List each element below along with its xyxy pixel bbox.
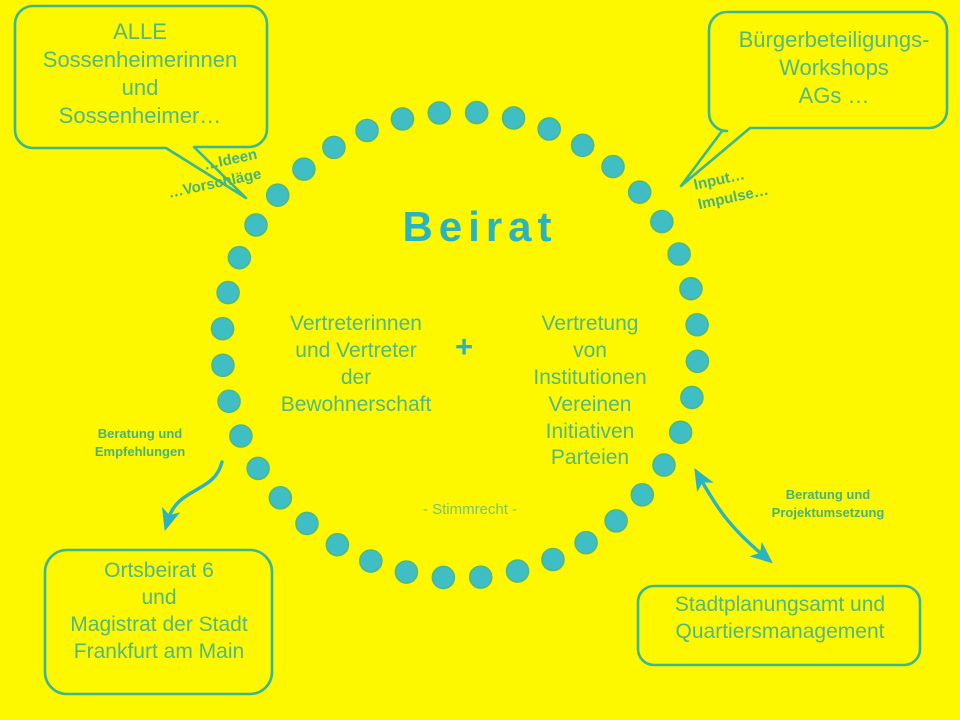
ring-dot: [293, 158, 315, 180]
arrow-right-label: Beratung und Projektumsetzung: [748, 486, 908, 521]
ring-dot: [267, 184, 289, 206]
member-group-right: Vertretung von Institutionen Vereinen In…: [492, 311, 688, 472]
ring-dot: [356, 120, 378, 142]
ring-dot: [212, 354, 234, 376]
plus-icon: +: [446, 331, 482, 362]
arrow-left-label: Beratung und Empfehlungen: [75, 425, 205, 460]
bubble-left-text: ALLE Sossenheimerinnen und Sossenheimer…: [18, 18, 262, 131]
ring-dot: [326, 534, 348, 556]
ring-dot: [247, 457, 269, 479]
ring-dot: [605, 510, 627, 532]
ring-dot: [680, 278, 702, 300]
ring-dot: [686, 350, 708, 372]
ring-dot: [668, 243, 690, 265]
ring-dot: [507, 560, 529, 582]
ring-dot: [686, 314, 708, 336]
ring-dot: [395, 561, 417, 583]
ring-dot: [572, 134, 594, 156]
voting-rights-note: - Stimmrecht -: [390, 500, 550, 519]
diagram-canvas: ALLE Sossenheimerinnen und Sossenheimer……: [0, 0, 960, 720]
arrow-left: [168, 462, 222, 520]
ring-dot: [269, 487, 291, 509]
ring-dot: [323, 136, 345, 158]
ring-dot: [470, 566, 492, 588]
ring-dot: [230, 425, 252, 447]
member-group-left: Vertreterinnen und Vertreter der Bewohne…: [258, 311, 454, 419]
ring-dot: [432, 566, 454, 588]
ring-dot: [602, 156, 624, 178]
ring-dot: [218, 390, 240, 412]
bubble-right-text: Bürgerbeteiligungs- Workshops AGs …: [718, 26, 950, 110]
ring-dot: [217, 282, 239, 304]
ring-dot: [538, 118, 560, 140]
ring-dot: [296, 512, 318, 534]
center-title: Beirat: [300, 200, 660, 254]
ring-dot: [391, 108, 413, 130]
ring-dot: [575, 532, 597, 554]
ring-dot: [212, 318, 234, 340]
ring-dot: [428, 102, 450, 124]
ring-dot: [631, 484, 653, 506]
ring-dot: [503, 107, 525, 129]
ring-dot: [228, 247, 250, 269]
box-left-text: Ortsbeirat 6 und Magistrat der Stadt Fra…: [48, 558, 270, 666]
ring-dot: [466, 102, 488, 124]
ring-dot: [542, 548, 564, 570]
ring-dot: [245, 214, 267, 236]
ring-dot: [360, 550, 382, 572]
box-right-text: Stadtplanungsamt und Quartiersmanagement: [642, 592, 918, 646]
